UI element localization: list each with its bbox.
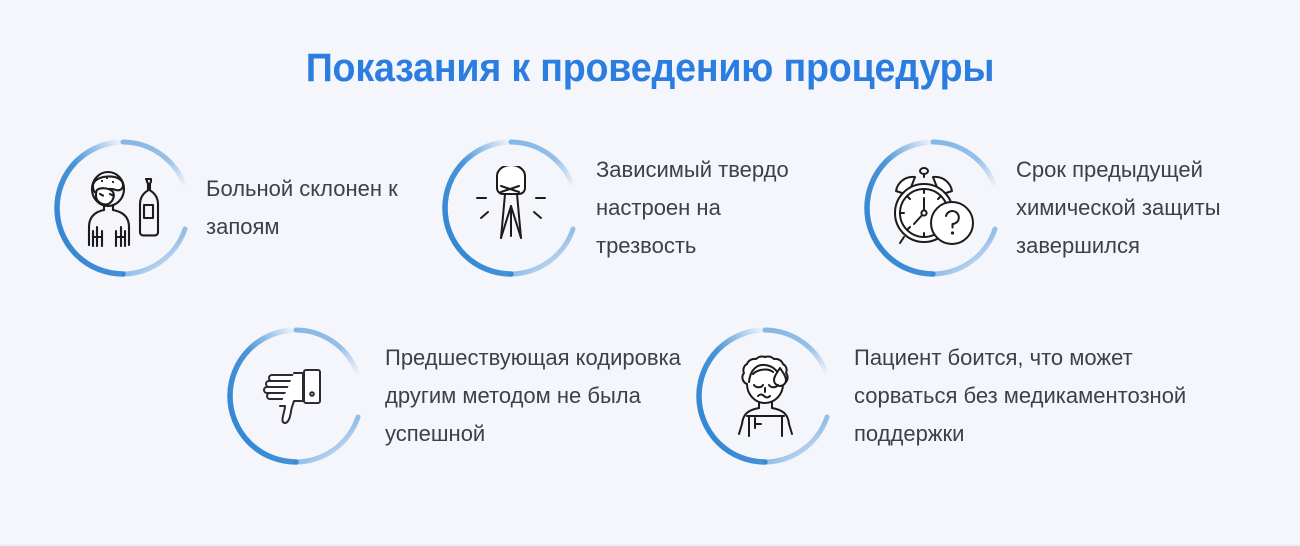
indication-item-previous-coding-failed: Предшествующая кодировка другим методом …	[225, 325, 725, 467]
indication-text: Пациент боится, что может сорваться без …	[854, 339, 1214, 453]
indication-text: Зависимый твердо настроен на трезвость	[596, 151, 811, 265]
thumbs-down-icon	[225, 325, 367, 467]
icon-badge	[862, 137, 1004, 279]
icon-badge	[225, 325, 367, 467]
alarm-clock-question-icon	[862, 137, 1004, 279]
indication-item-fear-of-relapse: Пациент боится, что может сорваться без …	[694, 325, 1214, 467]
page-title: Показания к проведению процедуры	[39, 44, 1261, 92]
indication-text: Срок предыдущей химической защиты заверш…	[1016, 151, 1261, 265]
icon-badge	[694, 325, 836, 467]
infographic-indications: Показания к проведению процедуры	[0, 0, 1300, 546]
indication-text: Больной склонен к запоям	[206, 170, 431, 246]
man-with-bottle-icon	[52, 137, 194, 279]
determined-person-icon	[440, 137, 582, 279]
indication-item-firm-sobriety: Зависимый твердо настроен на трезвость	[440, 137, 811, 279]
icon-badge	[440, 137, 582, 279]
indication-text: Предшествующая кодировка другим методом …	[385, 339, 725, 453]
indication-item-previous-protection-expired: Срок предыдущей химической защиты заверш…	[862, 137, 1261, 279]
icon-badge	[52, 137, 194, 279]
worried-face-icon	[694, 325, 836, 467]
indication-item-binge-drinking: Больной склонен к запоям	[52, 137, 431, 279]
